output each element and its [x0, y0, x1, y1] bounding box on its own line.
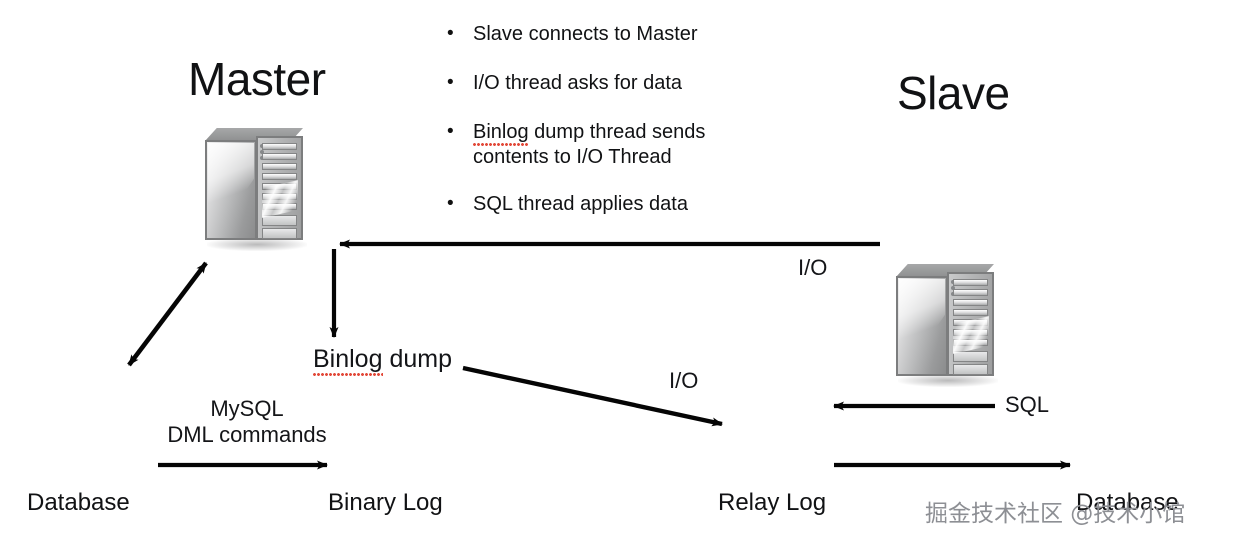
mysql-dml-line2: DML commands	[166, 422, 328, 448]
sql-label: SQL	[1005, 392, 1049, 418]
io-label-slave-master: I/O	[798, 255, 827, 281]
left-database-label: Database	[27, 489, 130, 517]
relay-log-label: Relay Log	[718, 489, 826, 517]
arrow-database-master-bidirectional	[129, 263, 206, 365]
connector-arrows	[0, 0, 1238, 546]
io-label-binlog-relay: I/O	[669, 368, 698, 394]
binlog-dump-label: Binlog dump	[313, 345, 452, 375]
diagram-canvas: Master Slave • Slave connects to Master …	[0, 0, 1238, 546]
mysql-dml-line1: MySQL	[166, 396, 328, 422]
misspelled-word: Binlog	[313, 345, 383, 376]
binlog-dump-suffix: dump	[383, 345, 452, 373]
binary-log-label: Binary Log	[328, 489, 443, 517]
watermark-text: 掘金技术社区 @技术小馆	[925, 494, 1185, 528]
mysql-dml-label: MySQL DML commands	[166, 396, 328, 448]
